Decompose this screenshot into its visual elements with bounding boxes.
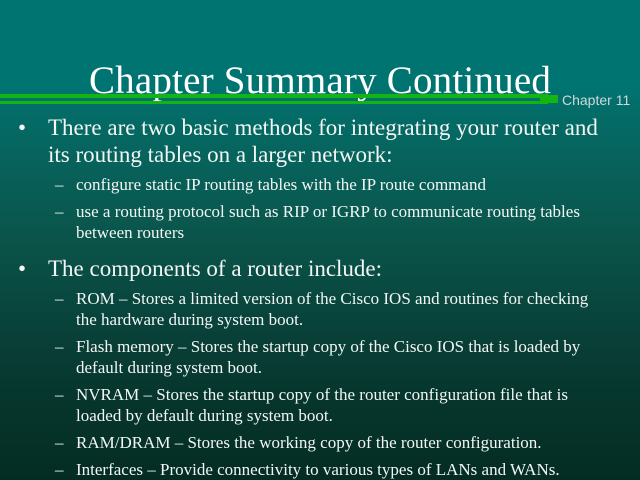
level2-bullet-text: RAM/DRAM – Stores the working copy of th… [76,433,542,452]
rule-bar-bottom [0,101,548,104]
level2-bullet-item: – NVRAM – Stores the startup copy of the… [0,384,640,426]
level1-bullet-text: The components of a router include: [48,256,382,281]
level2-bullet-item: – ROM – Stores a limited version of the … [0,288,640,330]
level1-bullet-icon: • [18,255,26,282]
level2-bullet-icon: – [55,336,64,357]
level2-bullet-item: – configure static IP routing tables wit… [0,174,640,195]
level2-bullet-icon: – [55,174,64,195]
level2-bullet-icon: – [55,288,64,309]
level2-bullet-text: configure static IP routing tables with … [76,175,486,194]
level2-bullet-text: NVRAM – Stores the startup copy of the r… [76,385,568,425]
slide-body: • There are two basic methods for integr… [0,114,640,480]
level2-bullet-text: ROM – Stores a limited version of the Ci… [76,289,588,329]
level2-bullet-item: – Flash memory – Stores the startup copy… [0,336,640,378]
green-double-rule-icon [0,94,548,106]
green-stub-marker-icon [540,95,558,103]
level2-bullet-item: – use a routing protocol such as RIP or … [0,201,640,243]
rule-bar-top [0,94,548,98]
level2-bullet-item: – Interfaces – Provide connectivity to v… [0,459,640,480]
level1-bullet-text: There are two basic methods for integrat… [48,115,598,167]
level2-bullet-item: – RAM/DRAM – Stores the working copy of … [0,432,640,453]
level2-bullet-text: use a routing protocol such as RIP or IG… [76,202,580,242]
level2-bullet-icon: – [55,384,64,405]
level2-bullet-text: Interfaces – Provide connectivity to var… [76,460,560,479]
level2-bullet-icon: – [55,432,64,453]
chapter-label: Chapter 11 [562,91,630,109]
level1-bullet-item: • The components of a router include: [0,255,640,282]
level2-bullet-icon: – [55,201,64,222]
bullet-group: • The components of a router include: – … [0,255,640,480]
presentation-slide: Chapter Summary Continued Chapter 11 • T… [0,0,640,480]
level2-bullet-text: Flash memory – Stores the startup copy o… [76,337,580,377]
level2-bullet-icon: – [55,459,64,480]
bullet-group: • There are two basic methods for integr… [0,114,640,243]
level1-bullet-icon: • [18,114,26,141]
level1-bullet-item: • There are two basic methods for integr… [0,114,640,168]
